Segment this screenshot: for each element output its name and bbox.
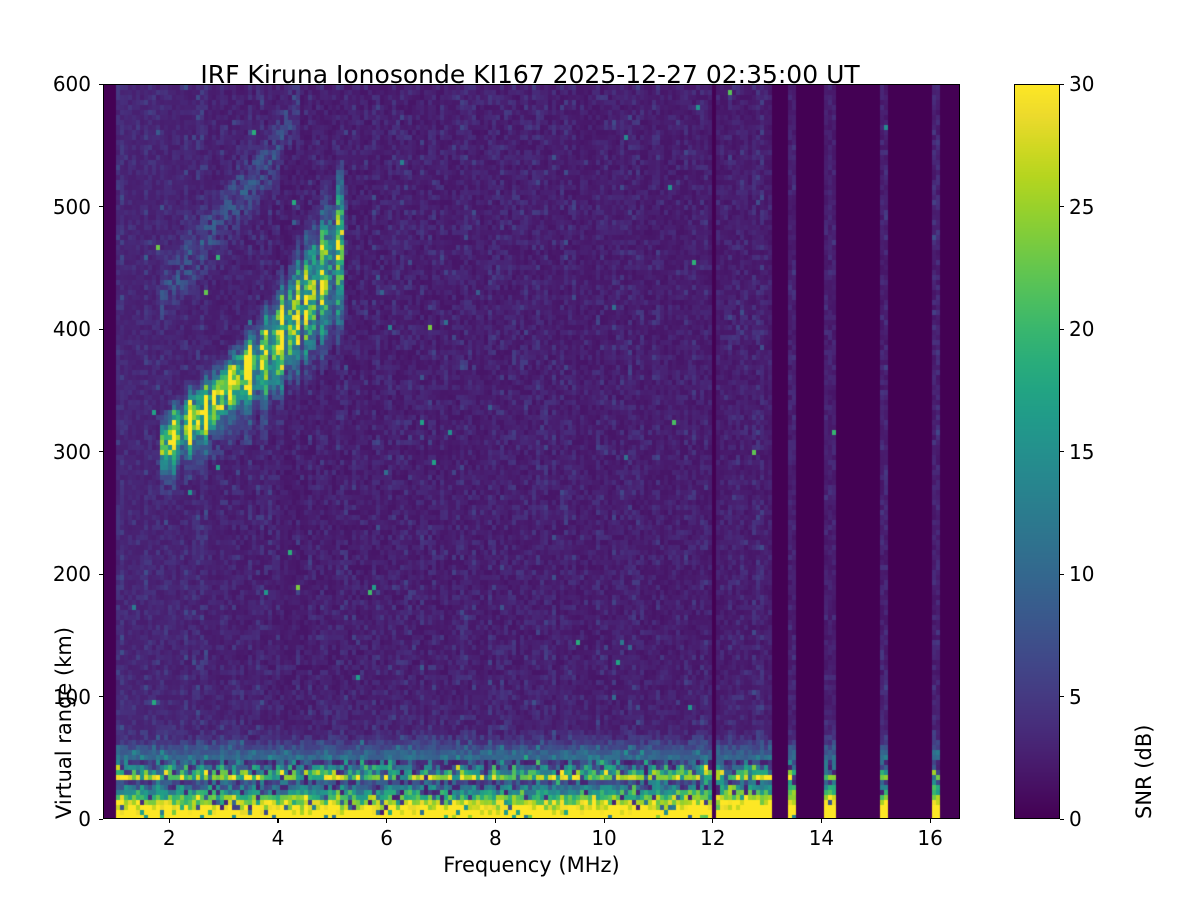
x-tick-label: 14 [781,828,861,848]
colorbar-tick-label: 10 [1069,564,1129,584]
x-tick-label: 12 [673,828,753,848]
x-tick-mark [930,819,931,823]
colorbar-tick-label: 30 [1069,74,1129,94]
x-tick-mark [495,819,496,823]
colorbar-tick-label: 0 [1069,809,1129,829]
colorbar-tick-mark [1060,206,1064,207]
colorbar-tick-label: 15 [1069,442,1129,462]
x-tick-label: 8 [455,828,535,848]
colorbar-tick-mark [1060,574,1064,575]
y-tick-mark [99,451,103,452]
y-tick-label: 200 [0,564,91,584]
colorbar-tick-label: 25 [1069,197,1129,217]
x-axis-label: Frequency (MHz) [103,853,960,877]
y-tick-label: 0 [0,809,91,829]
colorbar [1014,84,1060,819]
colorbar-tick-mark [1060,451,1064,452]
x-tick-mark [386,819,387,823]
x-tick-mark [604,819,605,823]
y-tick-label: 500 [0,197,91,217]
y-axis-label: Virtual range (km) [52,627,76,819]
y-tick-mark [99,574,103,575]
y-tick-label: 300 [0,442,91,462]
y-tick-mark [99,206,103,207]
ionogram-plot-area [103,84,960,819]
y-tick-label: 400 [0,319,91,339]
figure-canvas: IRF Kiruna Ionosonde KI167 2025-12-27 02… [0,0,1200,900]
colorbar-tick-label: 5 [1069,687,1129,707]
x-tick-label: 16 [890,828,970,848]
y-tick-mark [99,84,103,85]
y-tick-mark [99,819,103,820]
colorbar-tick-mark [1060,819,1064,820]
colorbar-tick-mark [1060,696,1064,697]
ionogram-heatmap [104,85,959,818]
colorbar-label: SNR (dB) [1132,725,1156,819]
colorbar-tick-mark [1060,84,1064,85]
x-tick-label: 10 [564,828,644,848]
y-tick-label: 100 [0,687,91,707]
y-tick-mark [99,329,103,330]
x-tick-label: 2 [129,828,209,848]
x-tick-label: 4 [238,828,318,848]
y-tick-mark [99,696,103,697]
colorbar-tick-label: 20 [1069,319,1129,339]
x-tick-label: 6 [347,828,427,848]
colorbar-tick-mark [1060,329,1064,330]
colorbar-gradient [1015,85,1059,818]
x-tick-mark [169,819,170,823]
x-tick-mark [712,819,713,823]
y-tick-label: 600 [0,74,91,94]
x-tick-mark [277,819,278,823]
x-tick-mark [821,819,822,823]
